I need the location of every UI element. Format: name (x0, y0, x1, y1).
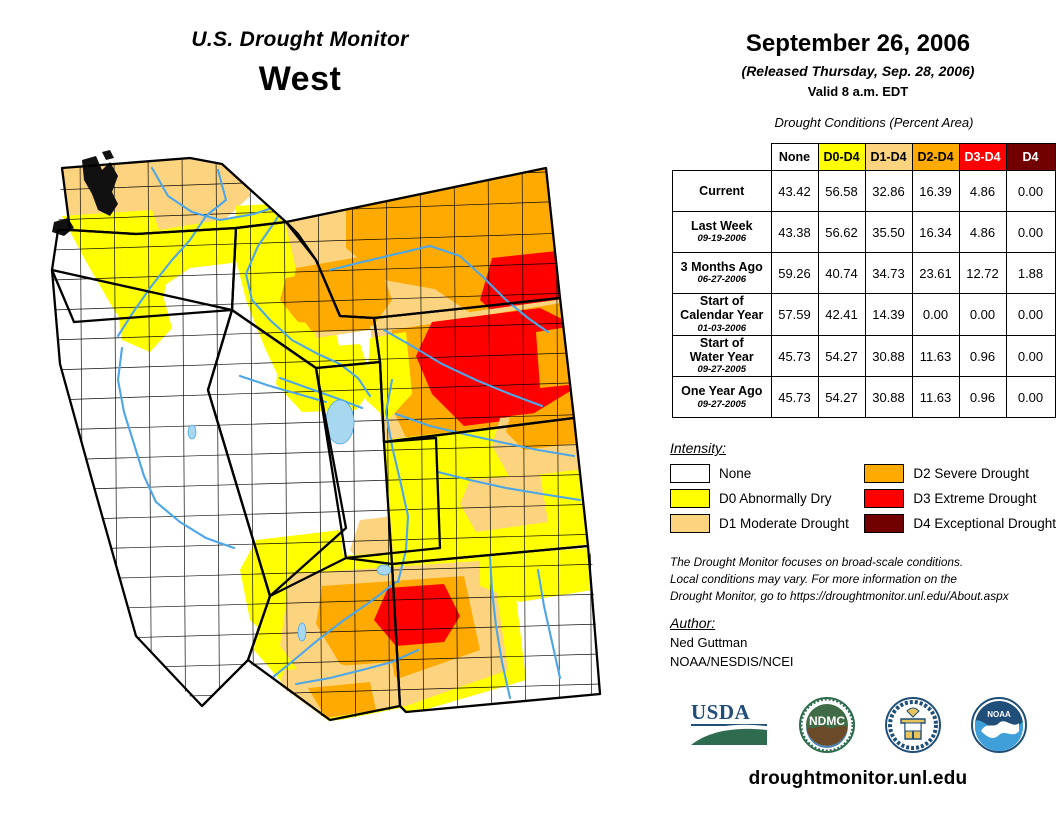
disclaimer-text: The Drought Monitor focuses on broad-sca… (670, 554, 1050, 604)
cell-r0-c1: 56.58 (818, 171, 865, 212)
row-label-date: 09-27-2005 (673, 365, 771, 376)
cell-r2-c1: 40.74 (818, 253, 865, 294)
row-label-date: 06-27-2006 (673, 275, 771, 286)
map-title-top: U.S. Drought Monitor (0, 28, 600, 52)
legend-swatch-1 (864, 464, 904, 483)
table-row: Start ofCalendar Year01-03-200657.5942.4… (673, 294, 1056, 336)
svg-text:USDA: USDA (691, 700, 751, 724)
cell-r3-c0: 57.59 (771, 294, 818, 336)
cell-r0-c2: 32.86 (865, 171, 912, 212)
lake-tahoe (188, 425, 196, 439)
table-row: Last Week09-19-200643.3856.6235.5016.344… (673, 212, 1056, 253)
report-date: September 26, 2006 (660, 30, 1056, 58)
cell-r2-c4: 12.72 (959, 253, 1006, 294)
cell-r4-c4: 0.96 (959, 335, 1006, 377)
cell-r0-c5: 0.00 (1006, 171, 1055, 212)
row-label-0: Current (673, 171, 772, 212)
svg-text:NDMC: NDMC (809, 714, 845, 728)
cell-r1-c2: 35.50 (865, 212, 912, 253)
table-corner-cell (673, 144, 772, 171)
legend-swatch-5 (864, 514, 904, 533)
legend-label-0: None (719, 466, 751, 481)
row-label-date: 09-19-2006 (673, 234, 771, 245)
ndmc-logo: NDMC (799, 697, 855, 753)
legend-swatch-2 (670, 489, 710, 508)
cell-r1-c5: 0.00 (1006, 212, 1055, 253)
row-label-3: Start ofCalendar Year01-03-2006 (673, 294, 772, 336)
table-row: One Year Ago09-27-200545.7354.2730.8811.… (673, 377, 1056, 418)
column-header-d2-d4: D2-D4 (912, 144, 959, 171)
cell-r3-c1: 42.41 (818, 294, 865, 336)
row-label-line: Start of (673, 294, 771, 308)
svg-text:NOAA: NOAA (987, 710, 1011, 719)
logo-row: USDA NDMC NOAA (660, 690, 1056, 760)
cell-r2-c5: 1.88 (1006, 253, 1055, 294)
cell-r1-c1: 56.62 (818, 212, 865, 253)
column-header-d1-d4: D1-D4 (865, 144, 912, 171)
author-name: Ned Guttman (670, 635, 794, 650)
cell-r5-c2: 30.88 (865, 377, 912, 418)
map-title-block: U.S. Drought Monitor West (0, 28, 600, 99)
row-label-date: 01-03-2006 (673, 324, 771, 335)
column-header-d4: D4 (1006, 144, 1055, 171)
cell-r2-c0: 59.26 (771, 253, 818, 294)
legend-label-2: D0 Abnormally Dry (719, 491, 832, 506)
legend-item-0: None (670, 463, 850, 483)
cell-r0-c3: 16.39 (912, 171, 959, 212)
row-label-5: One Year Ago09-27-2005 (673, 377, 772, 418)
cell-r5-c1: 54.27 (818, 377, 865, 418)
row-label-line: 3 Months Ago (673, 260, 771, 274)
row-label-line: One Year Ago (673, 384, 771, 398)
table-body: Current43.4256.5832.8616.394.860.00Last … (673, 171, 1056, 418)
map-title-main: West (0, 60, 600, 99)
legend-label-5: D4 Exceptional Drought (913, 516, 1056, 531)
info-panel: September 26, 2006 (Released Thursday, S… (660, 0, 1056, 816)
disclaimer-line-1: The Drought Monitor focuses on broad-sca… (670, 554, 1050, 571)
cell-r3-c4: 0.00 (959, 294, 1006, 336)
cell-r4-c3: 11.63 (912, 335, 959, 377)
usda-seal-logo (885, 697, 941, 753)
cell-r4-c2: 30.88 (865, 335, 912, 377)
legend-label-3: D3 Extreme Drought (913, 491, 1036, 506)
legend-item-5: D4 Exceptional Drought (864, 513, 1056, 533)
cell-r4-c5: 0.00 (1006, 335, 1055, 377)
table-caption: Drought Conditions (Percent Area) (660, 115, 1056, 130)
row-label-line: Current (673, 184, 771, 198)
great-salt-lake (326, 400, 354, 444)
column-header-none: None (771, 144, 818, 171)
column-header-d0-d4: D0-D4 (818, 144, 865, 171)
cell-r2-c2: 34.73 (865, 253, 912, 294)
valid-time: Valid 8 a.m. EDT (660, 84, 1056, 99)
legend-label-1: D2 Severe Drought (913, 466, 1029, 481)
cell-r0-c0: 43.42 (771, 171, 818, 212)
disclaimer-line-3: Drought Monitor, go to https://droughtmo… (670, 588, 1050, 605)
cell-r3-c3: 0.00 (912, 294, 959, 336)
d1-area-colorado-south-center (460, 474, 548, 532)
legend-item-1: D2 Severe Drought (864, 463, 1056, 483)
cell-r0-c4: 4.86 (959, 171, 1006, 212)
row-label-date: 09-27-2005 (673, 400, 771, 411)
row-label-4: Start ofWater Year09-27-2005 (673, 335, 772, 377)
cell-r1-c3: 16.34 (912, 212, 959, 253)
legend-swatch-4 (670, 514, 710, 533)
author-agency: NOAA/NESDIS/NCEI (670, 654, 794, 669)
cell-r2-c3: 23.61 (912, 253, 959, 294)
row-label-line: Calendar Year (673, 308, 771, 322)
column-header-d3-d4: D3-D4 (959, 144, 1006, 171)
legend-item-4: D1 Moderate Drought (670, 513, 850, 533)
release-date: (Released Thursday, Sep. 28, 2006) (660, 63, 1056, 79)
cell-r4-c0: 45.73 (771, 335, 818, 377)
lake-mead (298, 623, 306, 641)
cell-r1-c4: 4.86 (959, 212, 1006, 253)
cell-r1-c0: 43.38 (771, 212, 818, 253)
legend-swatch-0 (670, 464, 710, 483)
table-row: Current43.4256.5832.8616.394.860.00 (673, 171, 1056, 212)
legend-item-3: D3 Extreme Drought (864, 488, 1056, 508)
table-header-row: None D0-D4 D1-D4 D2-D4 D3-D4 D4 (673, 144, 1056, 171)
row-label-line: Start of (673, 336, 771, 350)
row-label-1: Last Week09-19-2006 (673, 212, 772, 253)
legend-swatch-3 (864, 489, 904, 508)
row-label-2: 3 Months Ago06-27-2006 (673, 253, 772, 294)
cell-r4-c1: 54.27 (818, 335, 865, 377)
cell-r5-c4: 0.96 (959, 377, 1006, 418)
author-block: Author: Ned Guttman NOAA/NESDIS/NCEI (670, 615, 794, 669)
intensity-legend: Intensity: NoneD2 Severe DroughtD0 Abnor… (670, 440, 1056, 533)
legend-item-2: D0 Abnormally Dry (670, 488, 850, 508)
cell-r5-c5: 0.00 (1006, 377, 1055, 418)
drought-conditions-table: None D0-D4 D1-D4 D2-D4 D3-D4 D4 Current4… (672, 143, 1056, 418)
author-title: Author: (670, 615, 794, 631)
noaa-logo: NOAA (971, 697, 1027, 753)
legend-label-4: D1 Moderate Drought (719, 516, 849, 531)
lake-powell (377, 565, 391, 575)
intensity-title: Intensity: (670, 440, 1056, 456)
row-label-line: Last Week (673, 219, 771, 233)
disclaimer-line-2: Local conditions may vary. For more info… (670, 571, 1050, 588)
table-row: 3 Months Ago06-27-200659.2640.7434.7323.… (673, 253, 1056, 294)
site-url[interactable]: droughtmonitor.unl.edu (660, 768, 1056, 790)
table-row: Start ofWater Year09-27-200545.7354.2730… (673, 335, 1056, 377)
date-block: September 26, 2006 (Released Thursday, S… (660, 0, 1056, 99)
legend-grid: NoneD2 Severe DroughtD0 Abnormally DryD3… (670, 463, 1056, 533)
usda-logo: USDA (689, 699, 769, 751)
cell-r3-c2: 14.39 (865, 294, 912, 336)
cell-r5-c0: 45.73 (771, 377, 818, 418)
row-label-line: Water Year (673, 350, 771, 364)
map-panel: U.S. Drought Monitor West (0, 0, 660, 816)
cell-r5-c3: 11.63 (912, 377, 959, 418)
drought-map[interactable] (40, 150, 640, 790)
cell-r3-c5: 0.00 (1006, 294, 1055, 336)
